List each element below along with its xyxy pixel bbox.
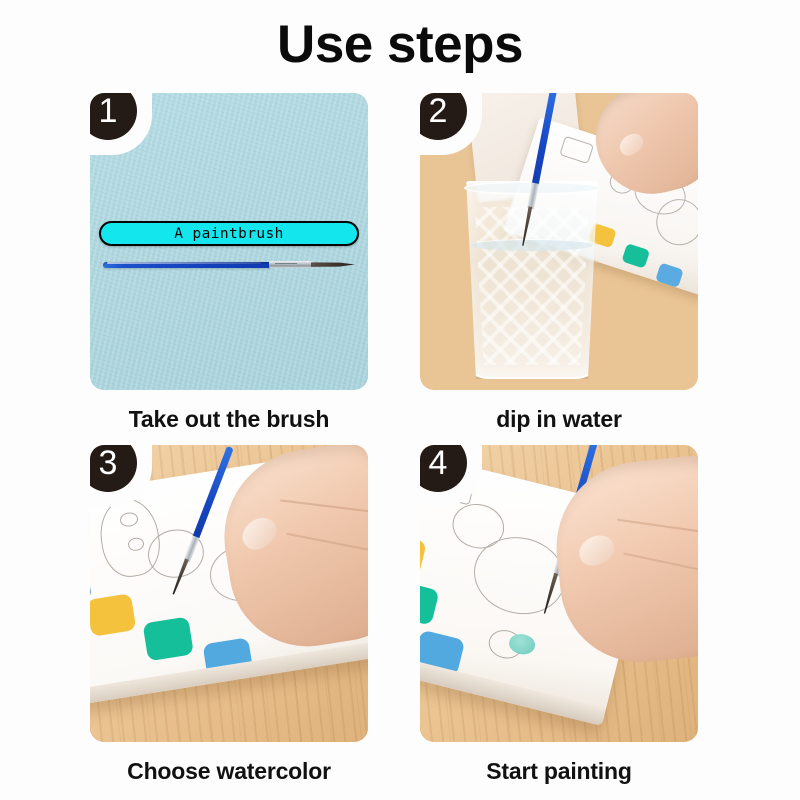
step-photo-4: 4 [420, 445, 698, 742]
fingernail [616, 129, 647, 159]
finger-crease [286, 533, 368, 553]
brush-tip [311, 262, 355, 267]
infographic-page: Use steps A paintbrush 1 Take out t [0, 0, 800, 800]
step-badge-3: 3 [90, 445, 152, 507]
step-badge-4: 4 [420, 445, 482, 507]
swatch-green [143, 617, 194, 662]
finger-crease [280, 499, 368, 512]
step-caption-1: Take out the brush [90, 406, 368, 433]
step-caption-4: Start painting [420, 758, 698, 785]
step-card-3: 3 Choose watercolor [90, 445, 368, 785]
step-photo-3: 3 [90, 445, 368, 742]
drawing-outline [559, 136, 594, 164]
swatch-green [621, 243, 650, 268]
finger-crease [623, 552, 698, 574]
step-photo-2: 2 [420, 93, 698, 390]
paintbrush-label: A paintbrush [99, 221, 359, 246]
step-caption-3: Choose watercolor [90, 758, 368, 785]
step-caption-2: dip in water [420, 406, 698, 433]
swatch-green [420, 580, 440, 626]
step-badge-1: 1 [90, 93, 152, 155]
swatch-yellow [420, 532, 427, 576]
brush-ferrule [269, 261, 313, 267]
paintbrush-label-text: A paintbrush [174, 226, 284, 242]
swatch-yellow [90, 593, 136, 637]
finger-crease [617, 519, 698, 534]
paintbrush-icon [103, 258, 353, 270]
page-title: Use steps [0, 14, 800, 75]
brush-handle [103, 262, 271, 268]
step-card-4: 4 Start painting [420, 445, 698, 785]
step-badge-2: 2 [420, 93, 482, 155]
step-card-1: A paintbrush 1 Take out the brush [90, 93, 368, 433]
step-photo-1: A paintbrush 1 [90, 93, 368, 390]
fingernail [574, 530, 619, 571]
steps-grid: A paintbrush 1 Take out the brush [0, 93, 800, 793]
brush-ferrule [527, 182, 538, 209]
water-surface [471, 239, 593, 251]
fingernail [236, 511, 282, 555]
step-card-2: 2 dip in water [420, 93, 698, 433]
brush-tip [521, 206, 533, 246]
